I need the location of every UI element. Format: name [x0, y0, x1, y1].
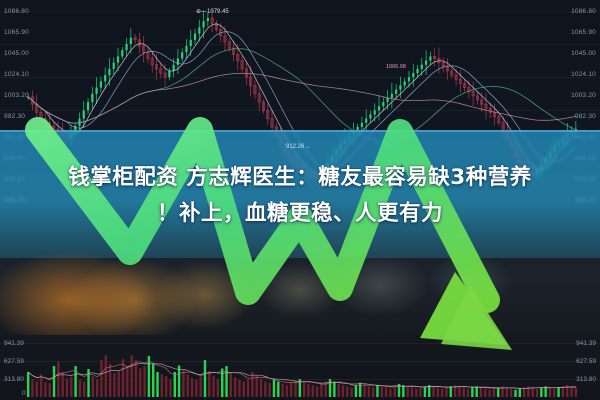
headline-line-2: ！补上，血糖更稳、人更有力 — [0, 196, 600, 232]
stock-chart-promo-image: 1086.80 1065.90 1045.00 1024.10 1003.20 … — [0, 0, 600, 400]
headline-line-1: 钱掌柜配资 方志辉医生：糖友最容易缺3种营养 — [68, 165, 531, 190]
headline-text: 钱掌柜配资 方志辉医生：糖友最容易缺3种营养 ！补上，血糖更稳、人更有力 — [0, 160, 600, 232]
